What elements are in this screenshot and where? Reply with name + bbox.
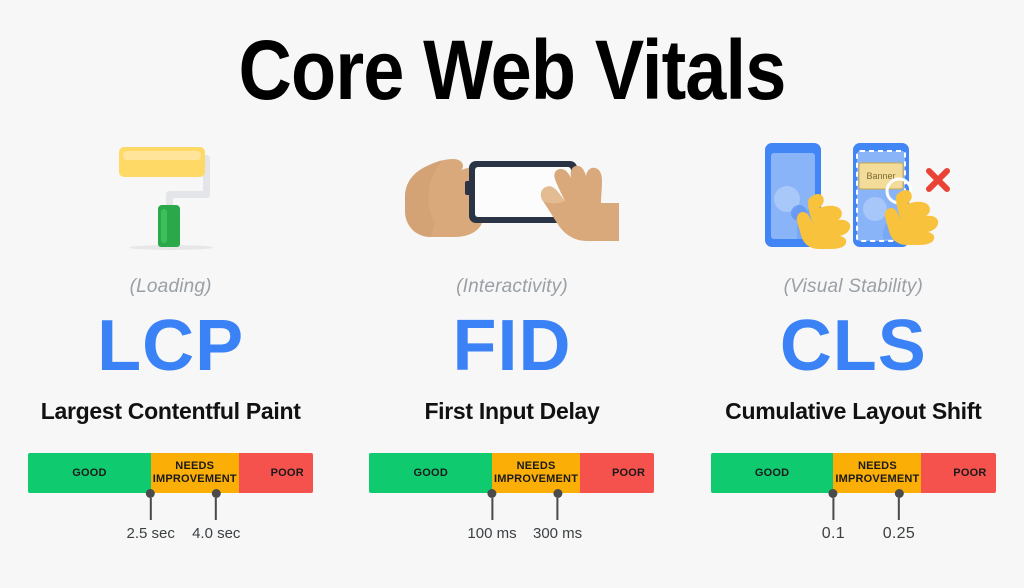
metrics-row: (Loading) LCP Largest Contentful Paint G… [0,132,1024,551]
svg-text:Banner: Banner [867,171,896,181]
pin-dot-icon [488,489,497,498]
rating-bar: GOOD NEEDS IMPROVEMENT POOR [28,453,313,493]
pin-dot-icon [553,489,562,498]
threshold-value-1: 0.1 [822,525,845,543]
pin-dot-icon [212,489,221,498]
paint-roller-icon [51,132,291,258]
acronym-lcp: LCP [97,310,244,382]
metric-name-fid: First Input Delay [424,398,599,425]
pin-stem [557,498,559,520]
metric-name-lcp: Largest Contentful Paint [41,398,301,425]
threshold-bar-lcp: GOOD NEEDS IMPROVEMENT POOR 2.5 sec 4.0 … [28,453,313,551]
layout-shift-mistap-icon: Banner [733,132,973,258]
rating-segment-needs-improvement: NEEDS IMPROVEMENT [151,453,239,493]
rating-segment-good: GOOD [28,453,151,493]
acronym-fid: FID [453,310,572,382]
threshold-bar-cls: GOOD NEEDS IMPROVEMENT POOR 0.1 0.25 [711,453,996,551]
page-title: Core Web Vitals [61,24,962,116]
threshold-value-2: 0.25 [883,525,915,543]
threshold-pin-2: 4.0 sec [192,493,240,542]
threshold-value-2: 4.0 sec [192,525,240,542]
threshold-pin-1: 2.5 sec [127,493,175,542]
rating-segment-needs-improvement: NEEDS IMPROVEMENT [833,453,921,493]
rating-segment-poor: POOR [580,453,654,493]
pin-stem [898,498,900,520]
threshold-pins: 2.5 sec 4.0 sec [28,493,313,551]
metric-name-cls: Cumulative Layout Shift [725,398,981,425]
pin-dot-icon [829,489,838,498]
threshold-pin-1: 100 ms [467,493,516,542]
metric-column-fid: (Interactivity) FID First Input Delay GO… [341,132,682,551]
rating-segment-good: GOOD [711,453,834,493]
rating-bar: GOOD NEEDS IMPROVEMENT POOR [369,453,654,493]
threshold-pin-1: 0.1 [822,493,845,543]
hands-tapping-phone-icon [392,132,632,258]
aspect-label-lcp: (Loading) [130,276,212,298]
aspect-label-cls: (Visual Stability) [784,276,923,298]
metric-column-lcp: (Loading) LCP Largest Contentful Paint G… [0,132,341,551]
threshold-pins: 100 ms 300 ms [369,493,654,551]
pin-stem [491,498,493,520]
aspect-label-fid: (Interactivity) [456,276,568,298]
rating-segment-needs-improvement: NEEDS IMPROVEMENT [492,453,580,493]
threshold-value-2: 300 ms [533,525,582,542]
rating-bar: GOOD NEEDS IMPROVEMENT POOR [711,453,996,493]
pin-dot-icon [894,489,903,498]
metric-column-cls: Banner (Visual Stability) CLS Cumulative… [683,132,1024,551]
threshold-pins: 0.1 0.25 [711,493,996,551]
pin-stem [150,498,152,520]
pin-dot-icon [146,489,155,498]
pin-stem [832,498,834,520]
threshold-value-1: 2.5 sec [127,525,175,542]
threshold-pin-2: 0.25 [883,493,915,543]
rating-segment-good: GOOD [369,453,492,493]
rating-segment-poor: POOR [239,453,313,493]
threshold-pin-2: 300 ms [533,493,582,542]
threshold-bar-fid: GOOD NEEDS IMPROVEMENT POOR 100 ms 300 m… [369,453,654,551]
pin-stem [215,498,217,520]
acronym-cls: CLS [780,310,927,382]
threshold-value-1: 100 ms [467,525,516,542]
rating-segment-poor: POOR [921,453,995,493]
